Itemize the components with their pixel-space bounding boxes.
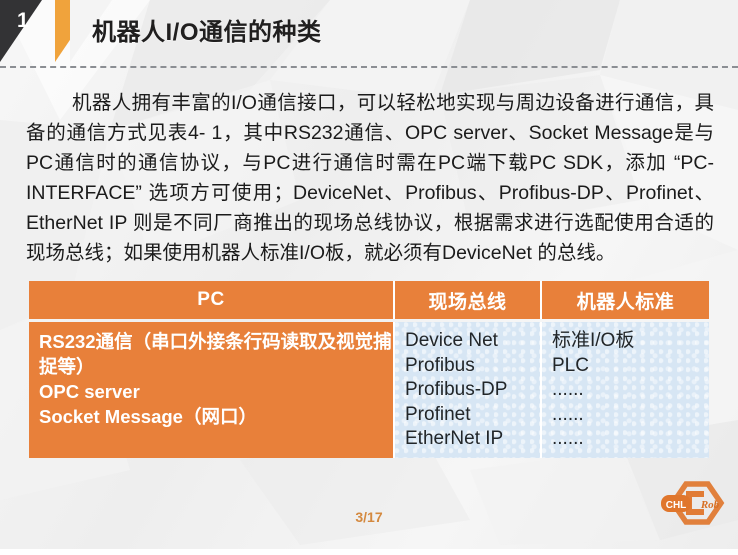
fieldbus-item-3: Profinet (405, 403, 540, 428)
footer-rule (0, 549, 738, 555)
pc-item-0: RS232通信（串口外接条行码读取及视觉捕捉等） (39, 329, 393, 379)
robot-standard-item-3: ...... (552, 403, 709, 428)
body-paragraph: 机器人拥有丰富的I/O通信接口，可以轻松地实现与周边设备进行通信，具备的通信方式… (26, 88, 714, 268)
page-indicator: 3/17 (0, 509, 738, 525)
fieldbus-item-1: Profibus (405, 354, 540, 379)
slide-number-badge: 1 (17, 9, 29, 33)
robot-standard-item-1: PLC (552, 354, 709, 379)
logo-secondary-text: Rob (700, 499, 720, 511)
pc-item-2: Socket Message（网口） (39, 404, 393, 429)
pc-item-1: OPC server (39, 379, 393, 404)
fieldbus-item-0: Device Net (405, 329, 540, 354)
table-cell-pc: RS232通信（串口外接条行码读取及视觉捕捉等） OPC server Sock… (29, 322, 393, 458)
slide: 1 机器人I/O通信的种类 机器人拥有丰富的I/O通信接口，可以轻松地实现与周边… (0, 0, 738, 555)
robot-standard-item-4: ...... (552, 427, 709, 452)
fieldbus-item-4: EtherNet IP (405, 427, 540, 452)
robot-standard-item-2: ...... (552, 378, 709, 403)
table-cell-fieldbus: Device Net Profibus Profibus-DP Profinet… (395, 322, 540, 458)
chl-rob-logo: CHL Rob (658, 481, 730, 537)
table-header-row: PC 现场总线 机器人标准 (29, 281, 709, 319)
page-title: 机器人I/O通信的种类 (92, 12, 322, 47)
header-divider (0, 66, 738, 68)
robot-standard-item-0: 标准I/O板 (552, 329, 709, 354)
communication-table: PC 现场总线 机器人标准 RS232通信（串口外接条行码读取及视觉捕捉等） O… (29, 281, 709, 458)
table-body-row: RS232通信（串口外接条行码读取及视觉捕捉等） OPC server Sock… (29, 322, 709, 458)
fieldbus-item-2: Profibus-DP (405, 378, 540, 403)
table-header-pc: PC (29, 281, 393, 319)
table-header-robot-standard: 机器人标准 (542, 281, 709, 319)
slide-header: 1 机器人I/O通信的种类 (0, 0, 738, 62)
logo-primary-text: CHL (666, 500, 687, 511)
table-header-fieldbus: 现场总线 (395, 281, 540, 319)
table-cell-robot-standard: 标准I/O板 PLC ...... ...... ...... (542, 322, 709, 458)
slide-background (0, 0, 738, 555)
